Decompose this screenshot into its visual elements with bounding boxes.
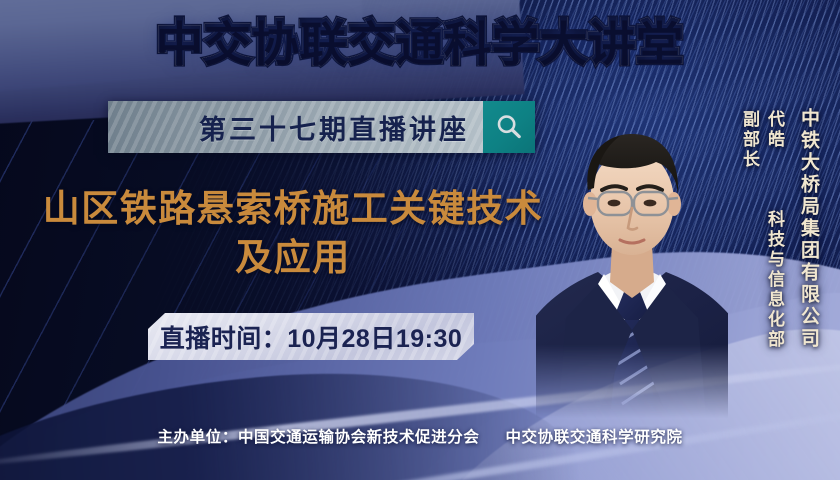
lecture-title-line-1: 山区铁路悬索桥施工关键技术 (43, 188, 544, 229)
lecture-poster: 中交协联交通科学大讲堂 中交协联交通科学大讲堂 第三十七期直播讲座 山区铁路悬索… (0, 0, 840, 480)
broadcast-time-banner: 直播时间：10月28日19:30 (148, 313, 474, 360)
speaker-identity: 代皓 科技与信息化部副部长 (737, 110, 787, 360)
speaker-name: 代皓 (765, 110, 784, 150)
subtitle-label: 第三十七期直播讲座 (199, 108, 469, 147)
footer-host-primary: 中国交通运输协会新技术促进分会 (238, 429, 480, 446)
footer-host-secondary: 中交协联交通科学研究院 (505, 429, 682, 446)
search-icon (494, 112, 524, 142)
footer-hosts: 主办单位：中国交通运输协会新技术促进分会中交协联交通科学研究院 (0, 425, 840, 447)
speaker-organization: 中铁大桥局集团有限公司 (795, 108, 822, 350)
subtitle-bar: 第三十七期直播讲座 (108, 101, 535, 153)
broadcast-time-text: 直播时间：10月28日19:30 (160, 319, 463, 355)
main-title: 中交协联交通科学大讲堂 (0, 17, 840, 70)
speaker-portrait (536, 86, 728, 418)
subtitle-bar-body: 第三十七期直播讲座 (108, 101, 483, 153)
lecture-title-line-2: 及应用 (28, 234, 558, 283)
lecture-title: 山区铁路悬索桥施工关键技术 及应用 (28, 185, 558, 283)
search-icon-tile[interactable] (483, 101, 535, 153)
footer-host-label: 主办单位： (157, 429, 238, 446)
